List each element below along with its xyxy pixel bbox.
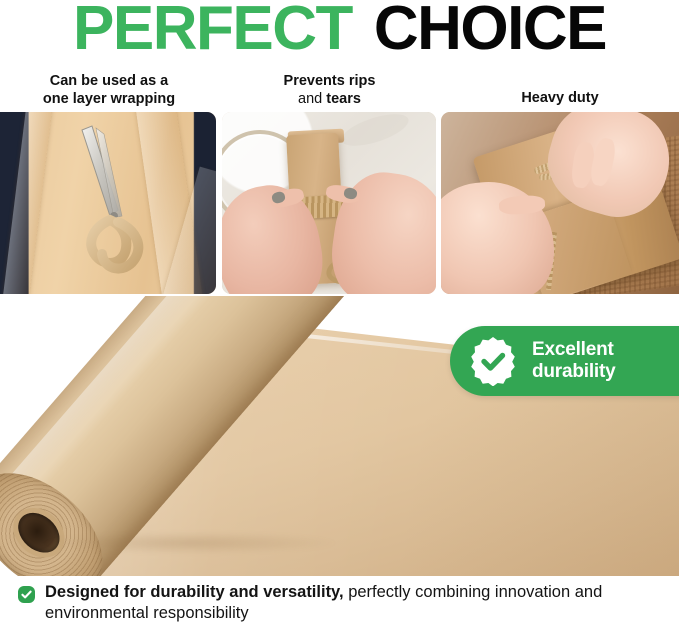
page-title: PERFECT CHOICE: [0, 0, 679, 62]
caption-one-layer-wrapping: Can be used as a one layer wrapping: [0, 72, 218, 108]
check-rosette-icon: [468, 336, 518, 386]
badge-label-line-2: durability: [532, 361, 616, 383]
excellent-durability-badge: Excellent durability: [450, 326, 679, 396]
badge-label-line-1: Excellent: [532, 339, 616, 361]
caption-line-1: Heavy duty: [441, 89, 679, 107]
green-check-icon: [18, 586, 35, 603]
bottom-claim: Designed for durability and versatility,…: [0, 578, 679, 634]
title-word-choice: CHOICE: [374, 0, 606, 60]
caption-line-1: Prevents rips: [222, 72, 437, 90]
photo-panel-scissors-on-kraft-paper: [0, 112, 216, 294]
scissors-icon: [52, 124, 162, 284]
hero-roll-shadow: [40, 532, 340, 554]
title-word-perfect: PERFECT: [73, 0, 352, 60]
caption-heavy-duty: Heavy duty: [441, 72, 679, 107]
caption-line-2: one layer wrapping: [0, 90, 218, 108]
feature-captions: Can be used as a one layer wrapping Prev…: [0, 72, 679, 112]
photo-panel-hands-tying-twine-package: [222, 112, 436, 294]
caption-line-2: and tears: [222, 90, 437, 108]
badge-label: Excellent durability: [532, 339, 616, 383]
photo-panel-hands-tying-bow-parcel: [441, 112, 679, 294]
caption-prevents-rips-and-tears: Prevents rips and tears: [222, 72, 437, 108]
caption-line-1: Can be used as a: [0, 72, 218, 90]
caption-word-and: and: [298, 91, 326, 107]
claim-text-bold: Designed for durability and versatility,: [45, 583, 344, 601]
claim-text: Designed for durability and versatility,…: [45, 582, 665, 634]
caption-word-tears: tears: [326, 91, 361, 107]
feature-photo-row: [0, 112, 679, 294]
